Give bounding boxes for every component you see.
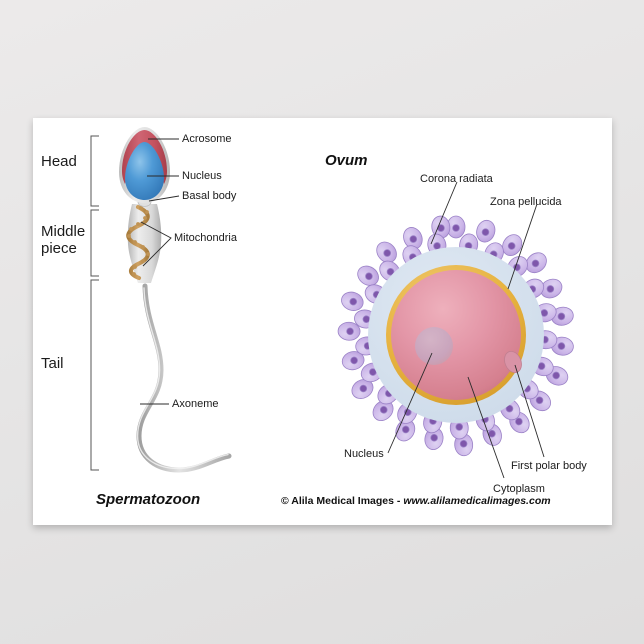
section-label-head-text: Head	[41, 153, 77, 170]
credit-website[interactable]: www.alilamedicalimages.com	[403, 495, 550, 507]
label-first-polar-body: First polar body	[511, 460, 587, 473]
tail-bracket	[91, 280, 99, 470]
ovum-figure	[338, 182, 575, 478]
head-bracket	[91, 136, 99, 206]
label-mitochondria: Mitochondria	[174, 232, 237, 245]
label-basal-body: Basal body	[182, 190, 236, 203]
sperm-tail	[139, 286, 229, 470]
ovum-title: Ovum	[325, 152, 368, 169]
label-cytoplasm: Cytoplasm	[493, 483, 545, 496]
section-label-middle-piece-line2: piece	[41, 241, 85, 258]
section-label-middle-piece-line1: Middle	[41, 224, 85, 241]
label-acrosome: Acrosome	[182, 133, 232, 146]
label-ovum-nucleus: Nucleus	[344, 448, 384, 461]
section-label-head: Head	[41, 154, 77, 171]
label-zona-pellucida: Zona pellucida	[490, 196, 562, 209]
section-label-tail: Tail	[41, 356, 64, 373]
credit-copyright: © Alila Medical Images -	[281, 495, 403, 507]
label-axoneme: Axoneme	[172, 398, 218, 411]
section-label-tail-text: Tail	[41, 355, 64, 372]
spermatozoon-title: Spermatozoon	[96, 491, 200, 508]
label-sperm-nucleus: Nucleus	[182, 170, 222, 183]
middle-piece-bracket	[91, 210, 99, 276]
cytoplasm	[391, 270, 521, 400]
poster-panel: Head Middle piece Tail Acrosome Nucleus …	[33, 118, 612, 525]
section-label-middle-piece: Middle piece	[41, 224, 85, 258]
credit-line: © Alila Medical Images - www.alilamedica…	[281, 495, 551, 507]
label-corona-radiata: Corona radiata	[420, 173, 493, 186]
ovum-nucleus	[415, 327, 453, 365]
